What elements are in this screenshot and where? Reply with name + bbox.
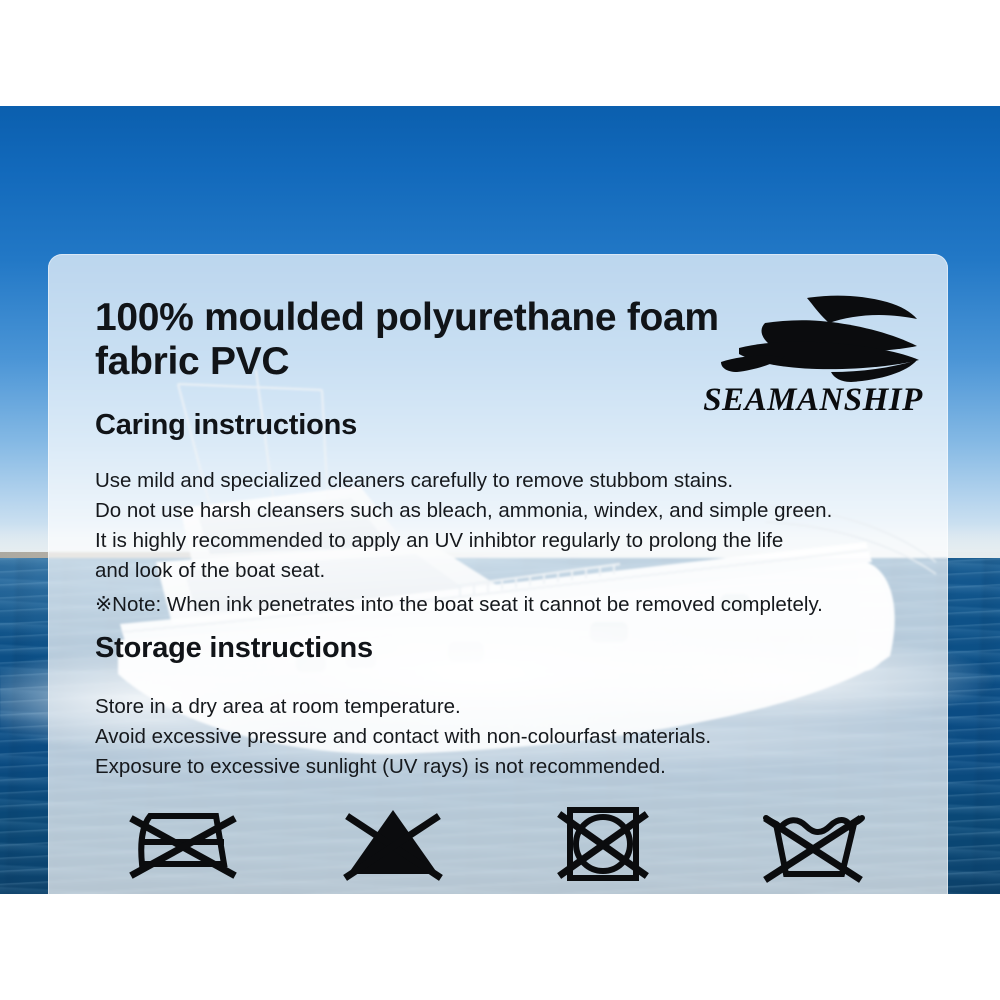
caring-instructions-body: Use mild and specialized cleaners carefu… (95, 466, 925, 586)
section-heading-storage: Storage instructions (95, 632, 373, 665)
page-title: 100% moulded polyurethane foam fabric PV… (95, 296, 735, 385)
care-symbol-no-iron: NO IRON (88, 802, 278, 894)
caring-line-2: Do not use harsh cleansers such as bleac… (95, 496, 925, 526)
background-photo: 100% moulded polyurethane foam fabric PV… (0, 106, 1000, 894)
brand-wordmark: SEAMANSHIP (693, 382, 933, 419)
no-machine-wash-icon (758, 802, 868, 886)
care-symbol-no-bleach: NO BLEACH (298, 802, 488, 894)
no-bleach-icon (338, 802, 448, 886)
storage-instructions-body: Store in a dry area at room temperature.… (95, 692, 895, 782)
storage-line-2: Avoid excessive pressure and contact wit… (95, 722, 895, 752)
storage-line-3: Exposure to excessive sunlight (UV rays)… (95, 752, 895, 782)
section-heading-caring: Caring instructions (95, 409, 357, 442)
care-symbol-no-machine-wash: NO MACHINE WASH (718, 802, 908, 894)
storage-line-1: Store in a dry area at room temperature. (95, 692, 895, 722)
info-card: 100% moulded polyurethane foam fabric PV… (48, 254, 948, 894)
care-symbol-no-tumble-dry: NO TUMBLE DRY (508, 802, 698, 894)
product-care-label-image: 100% moulded polyurethane foam fabric PV… (0, 0, 1000, 1000)
no-iron-icon (128, 802, 238, 886)
note-line: ※Note: When ink penetrates into the boat… (95, 590, 925, 620)
care-symbols-row: NO IRON NO BLEACH (88, 802, 908, 894)
no-tumble-dry-icon (548, 802, 658, 886)
caring-line-4: and look of the boat seat. (95, 556, 925, 586)
boat-logo-icon (711, 292, 923, 384)
caring-line-3: It is highly recommended to apply an UV … (95, 526, 925, 556)
caring-line-1: Use mild and specialized cleaners carefu… (95, 466, 925, 496)
brand-logo: SEAMANSHIP (693, 292, 933, 437)
caring-note: ※Note: When ink penetrates into the boat… (95, 590, 925, 620)
